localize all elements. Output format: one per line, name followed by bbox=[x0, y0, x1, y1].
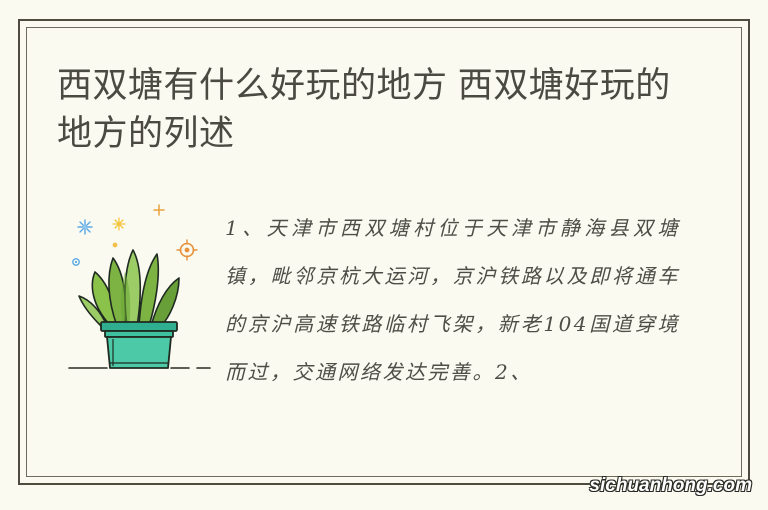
plant-pot bbox=[101, 322, 177, 368]
sparkle-dot-yellow bbox=[113, 243, 118, 248]
plant-leaves bbox=[79, 250, 179, 326]
page-root: 西双塘有什么好玩的地方 西双塘好玩的地方的列述 bbox=[0, 0, 768, 510]
page-title: 西双塘有什么好玩的地方 西双塘好玩的地方的列述 bbox=[57, 62, 697, 158]
sparkle-star-yellow bbox=[113, 218, 125, 230]
sparkle-dot-blue bbox=[73, 259, 79, 265]
article-body-text: 1、天津市西双塘村位于天津市静海县双塘镇，毗邻京杭大运河，京沪铁路以及即将通车的… bbox=[225, 204, 680, 396]
content-area: 1、天津市西双塘村位于天津市静海县双塘镇，毗邻京杭大运河，京沪铁路以及即将通车的… bbox=[57, 196, 697, 446]
site-watermark: sichuanhong.com bbox=[589, 475, 752, 497]
sparkle-flower-orange bbox=[177, 240, 197, 260]
sparkle-plus-orange bbox=[154, 205, 164, 215]
potted-plant-illustration bbox=[67, 202, 212, 382]
sparkle-snowflake-blue bbox=[78, 220, 92, 234]
